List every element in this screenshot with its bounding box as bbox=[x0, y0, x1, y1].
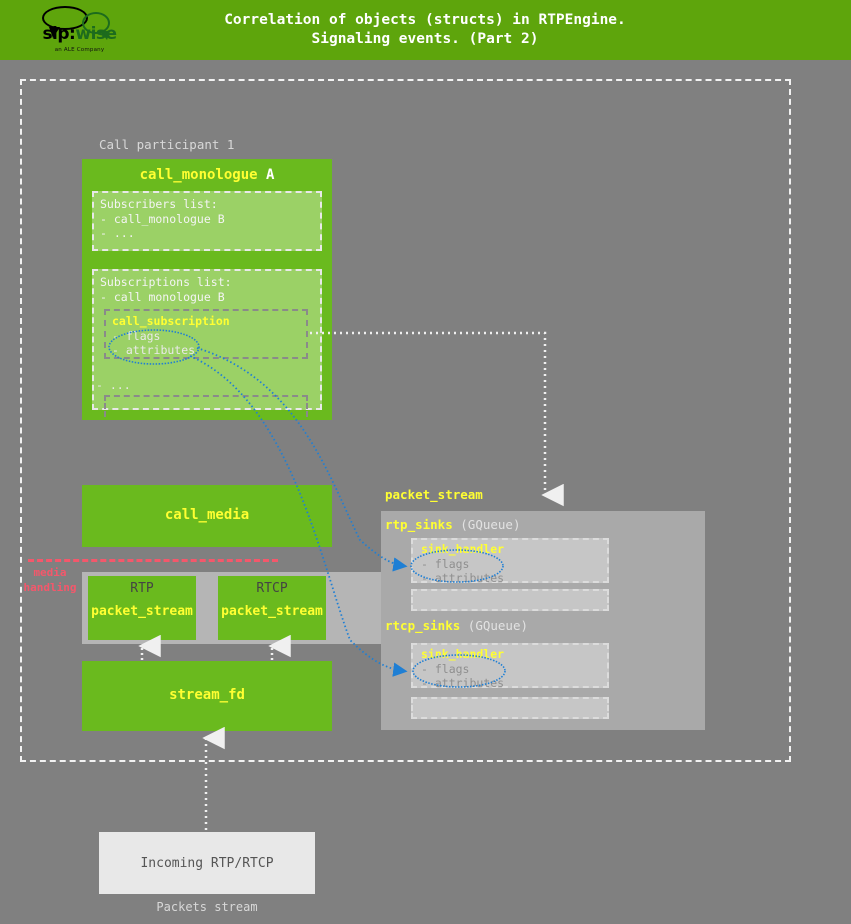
packet-stream-panel-label: packet_stream bbox=[385, 487, 483, 502]
sipwise-logo: sip:wise an ALE Company bbox=[32, 4, 127, 56]
rtp-packet-stream-title: packet_stream bbox=[88, 604, 196, 619]
page-title: Correlation of objects (structs) in RTPE… bbox=[140, 0, 710, 60]
rtcp-sinks-label: rtcp_sinks (GQueue) bbox=[385, 618, 528, 633]
rtp-sink-handler-box[interactable]: sink_handler - flags - attributes bbox=[411, 538, 609, 583]
call-monologue-title: call_monologue A bbox=[82, 167, 332, 183]
logo-wordmark: sip:wise bbox=[32, 24, 127, 44]
rtcp-sinks-type: (GQueue) bbox=[468, 618, 528, 633]
call-media-title: call_media bbox=[82, 507, 332, 523]
subscribers-item-0: - call_monologue B bbox=[100, 212, 314, 227]
logo-tagline: an ALE Company bbox=[32, 47, 127, 53]
rtp-sink-handler-keyword: sink_handler bbox=[421, 542, 599, 557]
media-handling-divider bbox=[28, 559, 278, 562]
call-subscription-flags: - flags bbox=[112, 329, 300, 344]
logo-sip-text: sip: bbox=[42, 24, 75, 44]
page-title-line2: Signaling events. (Part 2) bbox=[312, 30, 539, 49]
rtcp-kind-label: RTCP bbox=[218, 581, 326, 596]
call-subscription-attributes: - attributes bbox=[112, 343, 300, 358]
call-subscription-box[interactable]: call_subscription - flags - attributes bbox=[104, 309, 308, 359]
incoming-rtp-rtcp-box[interactable]: Incoming RTP/RTCP bbox=[99, 832, 315, 894]
call-participant-label: Call participant 1 bbox=[99, 137, 234, 152]
rtcp-sink-handler-attributes: - attributes bbox=[421, 676, 599, 691]
media-handling-label: media handling bbox=[18, 565, 82, 595]
incoming-label: Incoming RTP/RTCP bbox=[140, 856, 273, 871]
subscribers-heading: Subscribers list: bbox=[100, 197, 314, 212]
stream-fd-title: stream_fd bbox=[82, 687, 332, 703]
rtp-sink-handler-box-empty[interactable] bbox=[411, 589, 609, 611]
rtp-sink-handler-flags: - flags bbox=[421, 557, 599, 572]
rtcp-packet-stream-title: packet_stream bbox=[218, 604, 326, 619]
subscriptions-more: - ... bbox=[96, 378, 131, 392]
subscriptions-item: - call monologue B bbox=[100, 290, 314, 305]
rtcp-sink-handler-box-empty[interactable] bbox=[411, 697, 609, 719]
rtcp-sink-handler-keyword: sink_handler bbox=[421, 647, 599, 662]
page-header: sip:wise an ALE Company Correlation of o… bbox=[0, 0, 851, 60]
media-handling-line1: media bbox=[18, 565, 82, 580]
call-monologue-suffix: A bbox=[258, 167, 275, 183]
rtcp-sink-handler-box[interactable]: sink_handler - flags - attributes bbox=[411, 643, 609, 688]
rtp-sinks-name: rtp_sinks bbox=[385, 517, 453, 532]
packets-stream-caption: Packets stream bbox=[99, 900, 315, 914]
rtp-sinks-label: rtp_sinks (GQueue) bbox=[385, 517, 520, 532]
rtp-sinks-type: (GQueue) bbox=[460, 517, 520, 532]
rtp-packet-stream-box[interactable]: RTP packet_stream bbox=[88, 576, 196, 640]
stream-fd-box[interactable]: stream_fd bbox=[82, 661, 332, 731]
rtcp-sink-handler-flags: - flags bbox=[421, 662, 599, 677]
rtp-sink-handler-attributes: - attributes bbox=[421, 571, 599, 586]
call-media-box[interactable]: call_media bbox=[82, 485, 332, 547]
rtcp-sinks-name: rtcp_sinks bbox=[385, 618, 460, 633]
logo-wise-text: wise bbox=[75, 24, 116, 44]
subscribers-list-panel[interactable]: Subscribers list: - call_monologue B - .… bbox=[92, 191, 322, 251]
subscribers-item-1: - ... bbox=[100, 226, 314, 241]
call-subscription-keyword: call_subscription bbox=[112, 314, 300, 329]
rtp-kind-label: RTP bbox=[88, 581, 196, 596]
call-subscription-box-truncated bbox=[104, 395, 308, 417]
media-handling-line2: handling bbox=[18, 580, 82, 595]
page-title-line1: Correlation of objects (structs) in RTPE… bbox=[224, 11, 626, 30]
call-monologue-keyword: call_monologue bbox=[140, 167, 258, 183]
rtcp-packet-stream-box[interactable]: RTCP packet_stream bbox=[218, 576, 326, 640]
subscriptions-heading: Subscriptions list: bbox=[100, 275, 314, 290]
